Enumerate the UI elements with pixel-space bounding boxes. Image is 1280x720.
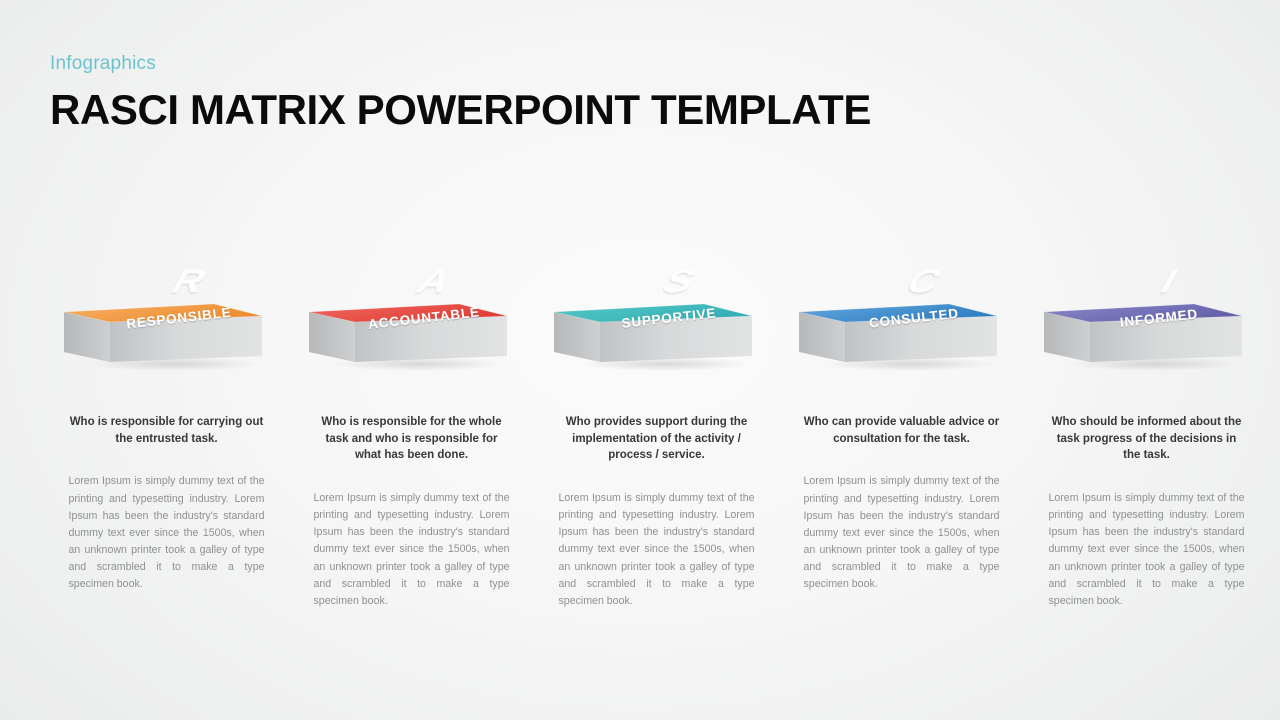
box-3d-supportive[interactable]: S SUPPORTIVE <box>552 260 762 372</box>
box-3d-informed[interactable]: I INFORMED <box>1042 260 1252 372</box>
page-header: Infographics RASCI MATRIX POWERPOINT TEM… <box>50 54 871 132</box>
box-3d-responsible[interactable]: R RESPONSIBLE <box>62 260 272 372</box>
rasci-columns: R RESPONSIBLE Who is responsible for car… <box>0 260 1280 610</box>
box-shape <box>62 260 272 372</box>
box-shape <box>1042 260 1252 372</box>
page-title: RASCI MATRIX POWERPOINT TEMPLATE <box>50 88 871 132</box>
rasci-column-accountable[interactable]: A ACCOUNTABLE Who is responsible for the… <box>289 260 534 610</box>
box-shape <box>307 260 517 372</box>
box-3d-accountable[interactable]: A ACCOUNTABLE <box>307 260 517 372</box>
eyebrow-label: Infographics <box>50 54 871 73</box>
rasci-column-informed[interactable]: I INFORMED Who should be informed about … <box>1024 260 1269 610</box>
box-3d-consulted[interactable]: C CONSULTED <box>797 260 1007 372</box>
box-shape <box>552 260 762 372</box>
rasci-column-supportive[interactable]: S SUPPORTIVE Who provides support during… <box>534 260 779 610</box>
column-heading-responsible: Who is responsible for carrying out the … <box>67 414 267 447</box>
rasci-column-consulted[interactable]: C CONSULTED Who can provide valuable adv… <box>779 260 1024 610</box>
rasci-column-responsible[interactable]: R RESPONSIBLE Who is responsible for car… <box>44 260 289 610</box>
column-heading-consulted: Who can provide valuable advice or consu… <box>802 414 1002 447</box>
column-heading-supportive: Who provides support during the implemen… <box>557 414 757 464</box>
column-heading-accountable: Who is responsible for the whole task an… <box>312 414 512 464</box>
column-heading-informed: Who should be informed about the task pr… <box>1047 414 1247 464</box>
column-body-supportive: Lorem Ipsum is simply dummy text of the … <box>559 490 755 610</box>
column-body-consulted: Lorem Ipsum is simply dummy text of the … <box>804 473 1000 593</box>
column-body-informed: Lorem Ipsum is simply dummy text of the … <box>1049 490 1245 610</box>
column-body-accountable: Lorem Ipsum is simply dummy text of the … <box>314 490 510 610</box>
box-shape <box>797 260 1007 372</box>
column-body-responsible: Lorem Ipsum is simply dummy text of the … <box>69 473 265 593</box>
